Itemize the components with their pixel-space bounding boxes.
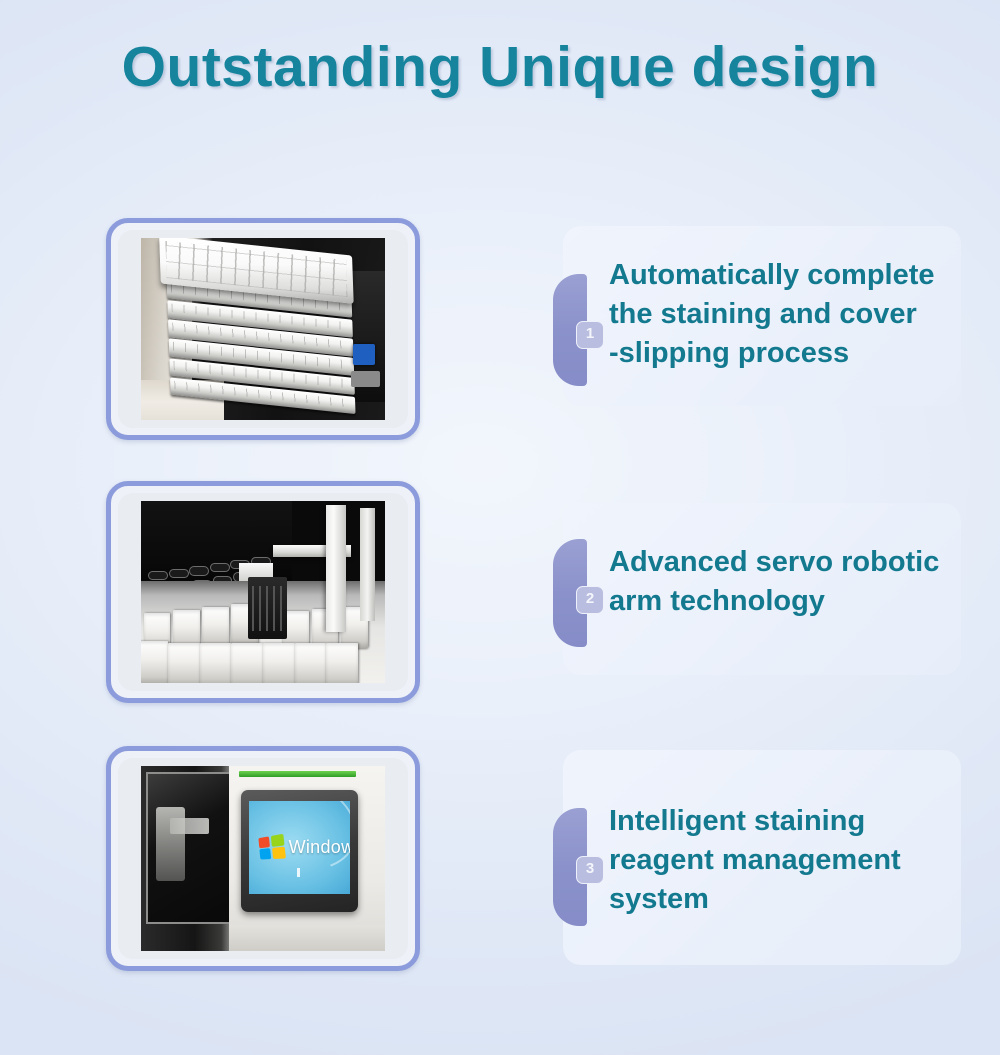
tray-stack — [165, 239, 356, 420]
photo-robotic-arm-reagents — [141, 501, 385, 683]
windows-boot-logo-row: Windows 7 — [258, 836, 344, 859]
feature-number-badge-1: 1 — [576, 321, 604, 349]
photo-frame-3: Windows 7 — [106, 746, 420, 971]
windows-logo-icon — [259, 834, 287, 860]
robotic-gripper — [248, 577, 287, 639]
page-title: Outstanding Unique design — [122, 34, 879, 100]
reagent-vessel — [326, 643, 358, 683]
blue-connector — [353, 344, 375, 366]
photo-frame-2 — [106, 481, 420, 703]
grey-connector — [351, 371, 380, 387]
photo-inner-2 — [118, 493, 408, 691]
touchscreen-bezel: Windows 7 — [241, 790, 358, 912]
reagent-vessel — [141, 641, 168, 683]
feature-row-1: 1 Automatically complete the staining an… — [0, 218, 1000, 440]
windows-version-label: Windows 7 — [289, 837, 350, 858]
slide-page: Outstanding Unique design — [0, 0, 1000, 1055]
reagent-vessel — [168, 643, 200, 683]
feature-text-line: Intelligent staining — [609, 802, 945, 841]
green-status-light-bar — [239, 771, 356, 777]
reagent-vessel — [200, 643, 232, 683]
reagent-vessel — [231, 643, 263, 683]
feature-text-line: -slipping process — [609, 334, 945, 373]
feature-text-line: Advanced servo robotic — [609, 543, 945, 582]
feature-text-1: Automatically complete the staining and … — [609, 256, 945, 373]
feature-text-line: arm technology — [609, 582, 945, 621]
internal-mechanism-arm — [170, 818, 209, 835]
feature-text-line: Automatically complete — [609, 256, 945, 295]
page-title-bar: Outstanding Unique design — [0, 34, 1000, 100]
feature-number-badge-3: 3 — [576, 856, 604, 884]
feature-text-line: system — [609, 880, 945, 919]
reagent-label — [210, 563, 230, 572]
instrument-base — [229, 925, 385, 951]
touchscreen-display[interactable]: Windows 7 — [249, 801, 350, 894]
reagent-vessel — [263, 643, 295, 683]
feature-panel-3: 3 Intelligent staining reagent managemen… — [563, 750, 961, 965]
reagent-label — [189, 566, 209, 575]
photo-frame-1 — [106, 218, 420, 440]
photo-inner-3: Windows 7 — [118, 758, 408, 959]
robotic-arm-column — [326, 505, 345, 633]
feature-number-badge-2: 2 — [576, 586, 604, 614]
feature-panel-2: 2 Advanced servo robotic arm technology — [563, 503, 961, 675]
boot-cursor — [297, 868, 300, 877]
photo-inner-1 — [118, 230, 408, 428]
feature-text-line: reagent management — [609, 841, 945, 880]
photo-slide-tray-rack — [141, 238, 385, 420]
reagent-vessel — [295, 643, 327, 683]
feature-text-3: Intelligent staining reagent management … — [609, 802, 945, 919]
feature-text-line: the staining and cover — [609, 295, 945, 334]
feature-row-3: Windows 7 3 Intelligent staining reagent… — [0, 746, 1000, 971]
robotic-arm-column-secondary — [360, 508, 375, 621]
feature-text-2: Advanced servo robotic arm technology — [609, 543, 945, 621]
feature-panel-1: 1 Automatically complete the staining an… — [563, 226, 961, 406]
feature-row-2: 2 Advanced servo robotic arm technology — [0, 481, 1000, 703]
photo-touchscreen-windows: Windows 7 — [141, 766, 385, 951]
